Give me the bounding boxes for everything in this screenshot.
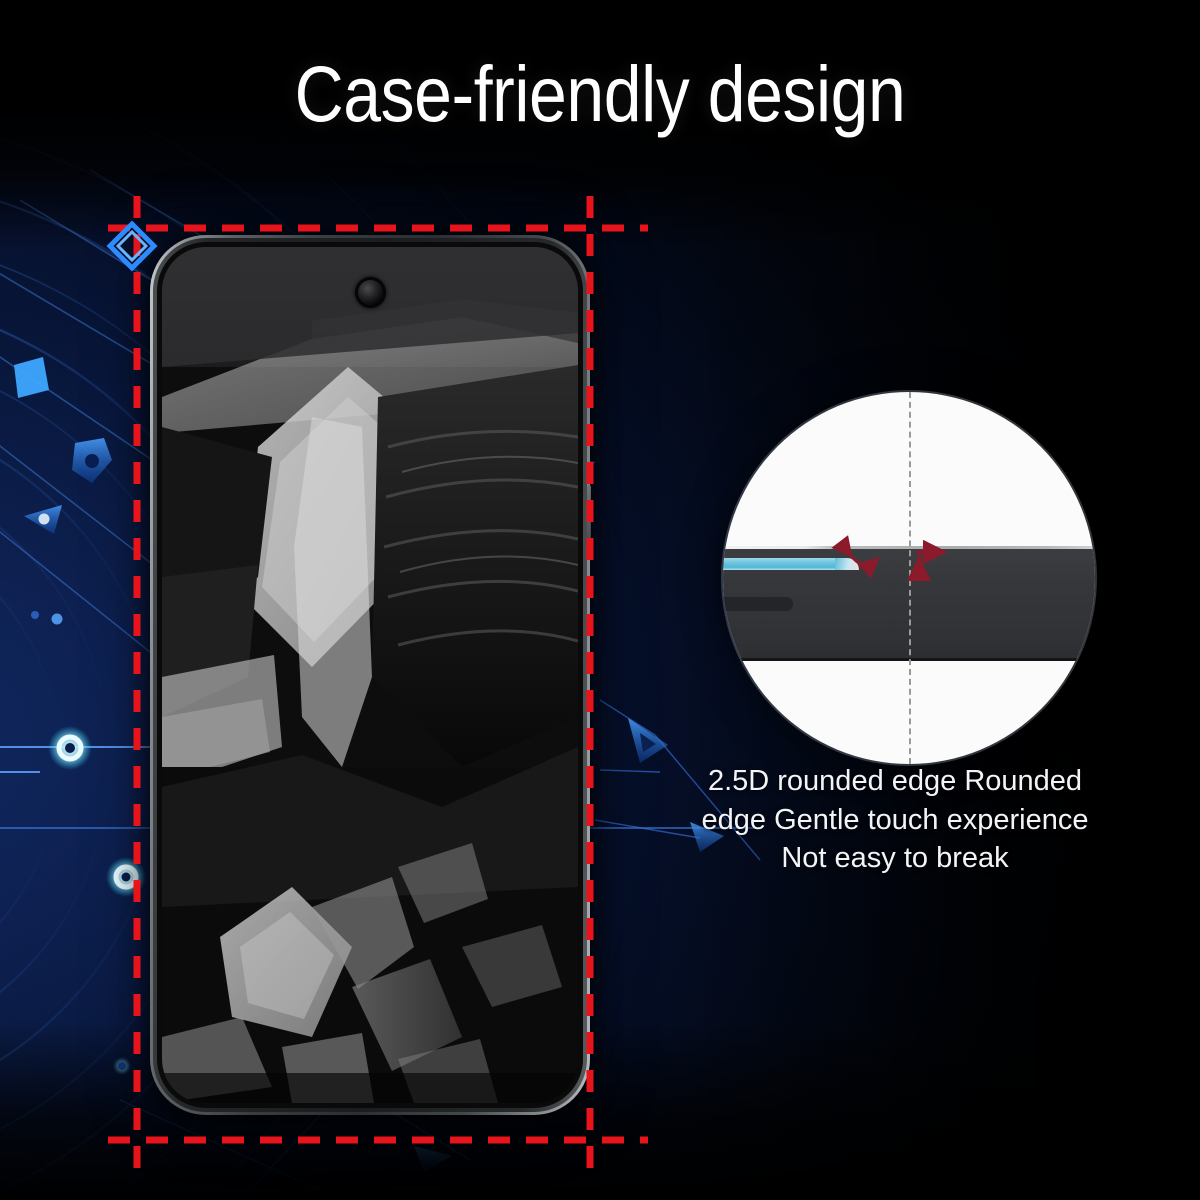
power-button[interactable] — [587, 485, 591, 557]
page-title: Case-friendly design — [84, 54, 1116, 133]
edge-annotation-arrows — [723, 392, 1095, 764]
blue-quad-marker — [14, 357, 49, 398]
glowing-ring-node — [106, 857, 146, 897]
caption-line-3: Not easy to break — [640, 839, 1150, 878]
blue-diamond-marker — [104, 218, 160, 274]
right-angle-arrow-square-edge — [919, 552, 937, 567]
small-dot — [52, 614, 63, 625]
punch-hole-front-camera — [358, 280, 383, 305]
curved-double-arrow-rounded-edge — [847, 551, 873, 566]
phone-screen — [162, 247, 578, 1103]
blue-triangle-marker — [628, 718, 668, 763]
smartphone-front-view — [150, 235, 590, 1115]
product-image-canvas: Case-friendly design — [0, 0, 1200, 1200]
caption-line-1: 2.5D rounded edge Rounded — [640, 762, 1150, 801]
blue-shield-marker — [72, 438, 112, 483]
edge-cross-section-magnifier — [723, 392, 1095, 764]
blue-triangle-marker — [24, 505, 62, 534]
feature-caption: 2.5D rounded edge Rounded edge Gentle to… — [640, 762, 1150, 878]
caption-line-2: edge Gentle touch experience — [640, 801, 1150, 840]
wallpaper-grayscale-canyon — [162, 247, 578, 1103]
glowing-ring-node — [48, 726, 92, 770]
phone-side-rail — [150, 235, 590, 1115]
small-dot — [31, 611, 39, 619]
